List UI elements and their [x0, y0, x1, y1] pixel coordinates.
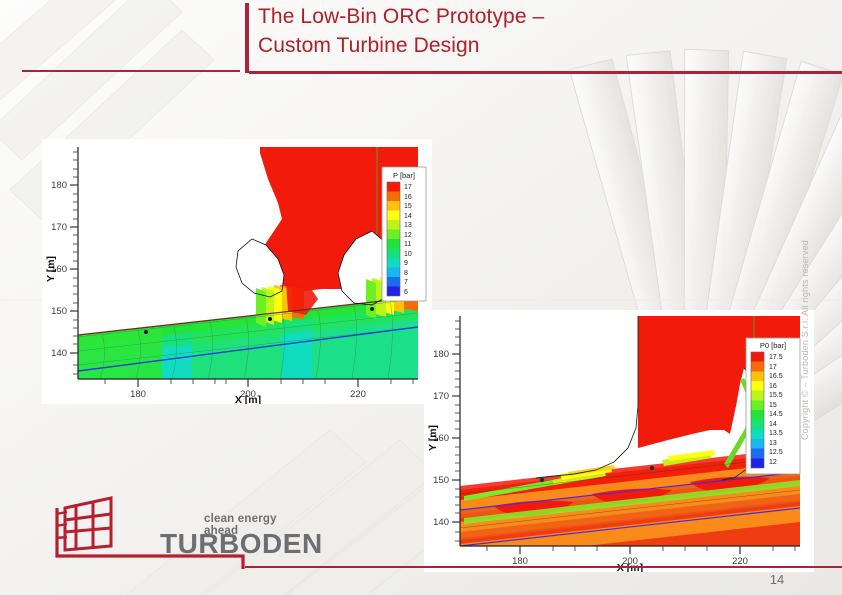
colorbar2-label-6: 14.5 — [769, 411, 783, 418]
colorbar2-label-9: 13 — [769, 440, 777, 447]
colorbar2-label-1: 17 — [769, 364, 777, 371]
slide-canvas: The Low-Bin ORC Prototype – Custom Turbi… — [0, 0, 842, 595]
header-rule-bottom — [249, 71, 842, 74]
ytick2-170: 170 — [433, 391, 449, 402]
colorbar2-label-11: 12 — [769, 459, 777, 466]
colorbar2-label-0: 17.5 — [769, 354, 783, 361]
chart-static-pressure: 140 150 160 170 180 180 200 220 X [m] Y … — [42, 139, 432, 404]
page-title-line-1: The Low-Bin ORC Prototype – — [258, 2, 818, 31]
page-number: 14 — [757, 572, 797, 587]
colorbar-static: P [bar] 17 16 15 14 13 12 11 10 9 8 7 6 — [382, 167, 426, 301]
colorbar-total: P0 [bar] 17.5 17 16.5 16 15.5 15 14.5 14… — [746, 338, 800, 474]
slide-header: The Low-Bin ORC Prototype – Custom Turbi… — [0, 0, 842, 80]
colorbar-label-6: 11 — [404, 241, 411, 248]
colorbar-label-4: 13 — [404, 222, 412, 229]
header-rule-left — [22, 70, 240, 72]
ytick-150: 150 — [51, 306, 67, 317]
xtick-220: 220 — [350, 389, 366, 400]
ytick-170: 170 — [51, 222, 67, 233]
y-axis-label-2: Y [m] — [427, 425, 439, 451]
page-title: The Low-Bin ORC Prototype – Custom Turbi… — [258, 2, 818, 60]
colorbar-label-2: 15 — [404, 203, 412, 210]
colorbar2-label-10: 12.5 — [769, 449, 783, 456]
colorbar-label-7: 10 — [404, 251, 412, 258]
colorbar-label-10: 7 — [404, 279, 408, 286]
ytick2-140: 140 — [433, 517, 449, 528]
copyright-notice: Copyright © – Turboden S.r.l. All rights… — [800, 240, 810, 440]
xtick-180: 180 — [130, 389, 146, 400]
colorbar-label-1: 16 — [404, 194, 412, 201]
colorbar2-label-3: 16 — [769, 383, 777, 390]
colorbar2-label-8: 13.5 — [769, 430, 783, 437]
colorbar2-label-2: 16.5 — [769, 373, 783, 380]
colorbar2-label-4: 15.5 — [769, 392, 783, 399]
logo-wordmark: TURBODEN — [160, 528, 323, 560]
colorbar2-label-5: 15 — [769, 402, 777, 409]
ytick-140: 140 — [51, 348, 67, 359]
ytick2-180: 180 — [433, 349, 449, 360]
colorbar-label-9: 8 — [404, 270, 408, 277]
colorbar-label-8: 9 — [404, 260, 408, 267]
page-title-line-2: Custom Turbine Design — [258, 31, 818, 60]
colorbar-label-11: 6 — [404, 289, 408, 296]
colorbar-title-2: P0 [bar] — [760, 341, 786, 350]
colorbar2-label-7: 14 — [769, 421, 777, 428]
colorbar-label-3: 14 — [404, 213, 412, 220]
footer-rule — [245, 566, 842, 568]
y-axis-label: Y [m] — [45, 256, 57, 282]
colorbar-label-0: 17 — [404, 184, 412, 191]
ytick2-150: 150 — [433, 475, 449, 486]
chart-total-pressure: 140 150 160 170 180 180 200 220 X [m] Y … — [424, 310, 814, 572]
ytick-180: 180 — [51, 180, 67, 191]
colorbar-title: P [bar] — [393, 171, 415, 180]
x-axis-label: X [m] — [235, 394, 261, 404]
colorbar-label-5: 12 — [404, 232, 412, 239]
header-accent-bar — [245, 3, 249, 73]
